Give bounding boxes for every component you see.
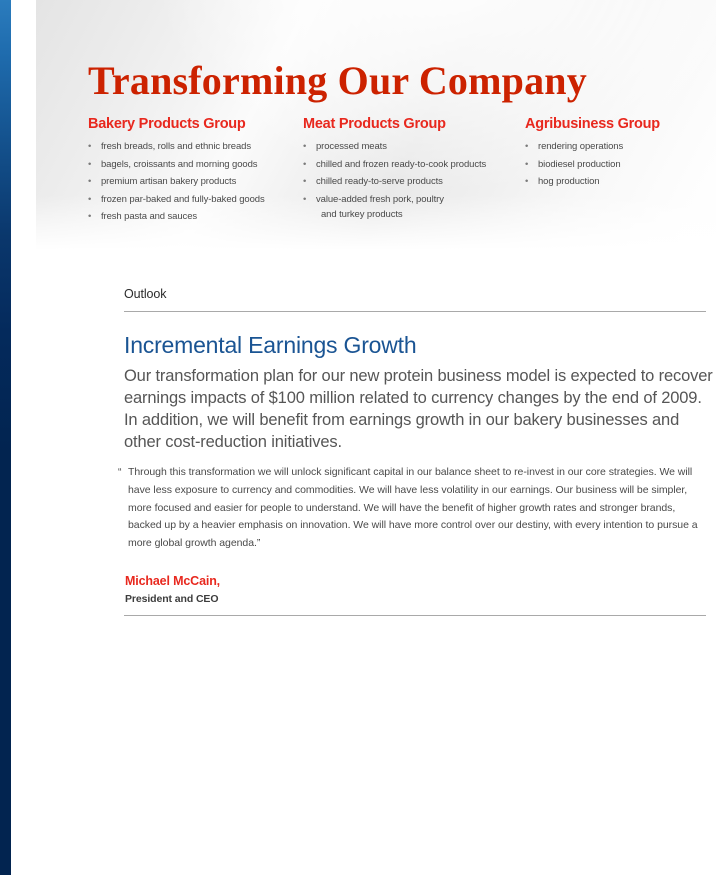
product-group-agribusiness: Agribusiness Group •rendering operations…: [525, 116, 715, 193]
report-page: Transforming Our Company Bakery Products…: [0, 0, 716, 875]
list-item: •chilled and frozen ready-to-cook produc…: [303, 158, 518, 171]
divider-top: [124, 311, 706, 312]
list-item-label: premium artisan bakery products: [101, 176, 236, 187]
list-item-label: and turkey products: [321, 209, 403, 220]
list-item: •premium artisan bakery products: [88, 175, 303, 188]
list-item: •bagels, croissants and morning goods: [88, 158, 303, 171]
signature-role: President and CEO: [125, 592, 218, 606]
product-group-title: Meat Products Group: [303, 116, 518, 132]
left-edge-gradient-bar: [0, 0, 11, 875]
divider-bottom: [124, 615, 706, 616]
product-group-title: Agribusiness Group: [525, 116, 715, 132]
list-item-label: frozen par-baked and fully-baked goods: [101, 194, 265, 205]
product-group-bakery: Bakery Products Group •fresh breads, rol…: [88, 116, 303, 228]
bullet-icon: •: [88, 158, 91, 171]
bullet-icon: •: [303, 140, 306, 153]
pull-quote: “Through this transformation we will unl…: [128, 464, 706, 553]
list-item-label: hog production: [538, 176, 599, 187]
bullet-icon: •: [88, 210, 91, 223]
bullet-icon: •: [525, 175, 528, 188]
list-item: •rendering operations: [525, 140, 715, 153]
bullet-icon: •: [303, 158, 306, 171]
bullet-icon: •: [525, 158, 528, 171]
list-item: •biodiesel production: [525, 158, 715, 171]
open-quote-mark: “: [118, 464, 121, 482]
list-item: •frozen par-baked and fully-baked goods: [88, 193, 303, 206]
product-group-list: •rendering operations •biodiesel product…: [525, 140, 715, 188]
bullet-icon: •: [88, 140, 91, 153]
product-group-list: •processed meats •chilled and frozen rea…: [303, 140, 518, 221]
list-item-label: biodiesel production: [538, 159, 621, 170]
pull-quote-text: Through this transformation we will unlo…: [128, 466, 698, 549]
section-heading: Incremental Earnings Growth: [124, 331, 416, 359]
page-title: Transforming Our Company: [88, 59, 587, 103]
bullet-icon: •: [525, 140, 528, 153]
list-item: •processed meats: [303, 140, 518, 153]
list-item-label: chilled and frozen ready-to-cook product…: [316, 159, 486, 170]
list-item-label: fresh pasta and sauces: [101, 211, 197, 222]
section-lede-paragraph: Our transformation plan for our new prot…: [124, 365, 714, 453]
page-content-area: Transforming Our Company Bakery Products…: [36, 0, 716, 875]
bullet-icon: •: [88, 175, 91, 188]
bullet-icon: •: [303, 193, 306, 206]
list-item: •fresh pasta and sauces: [88, 210, 303, 223]
list-item-label: processed meats: [316, 141, 387, 152]
list-item-label: fresh breads, rolls and ethnic breads: [101, 141, 251, 152]
list-item-label: bagels, croissants and morning goods: [101, 159, 257, 170]
list-item: •fresh breads, rolls and ethnic breads: [88, 140, 303, 153]
list-item: •chilled ready-to-serve products: [303, 175, 518, 188]
signature-name: Michael McCain,: [125, 573, 220, 589]
product-group-list: •fresh breads, rolls and ethnic breads •…: [88, 140, 303, 223]
bullet-icon: •: [88, 193, 91, 206]
list-item-label: chilled ready-to-serve products: [316, 176, 443, 187]
list-item-label: value-added fresh pork, poultry: [316, 194, 444, 205]
product-group-meat: Meat Products Group •processed meats •ch…: [303, 116, 518, 226]
section-label-outlook: Outlook: [124, 286, 166, 302]
list-item-label: rendering operations: [538, 141, 623, 152]
bullet-icon: •: [303, 175, 306, 188]
list-item: •hog production: [525, 175, 715, 188]
list-item-continuation: and turkey products: [303, 208, 518, 221]
left-gutter: [11, 0, 36, 875]
product-groups: Bakery Products Group •fresh breads, rol…: [36, 116, 716, 236]
product-group-title: Bakery Products Group: [88, 116, 303, 132]
list-item: •value-added fresh pork, poultry: [303, 193, 518, 206]
